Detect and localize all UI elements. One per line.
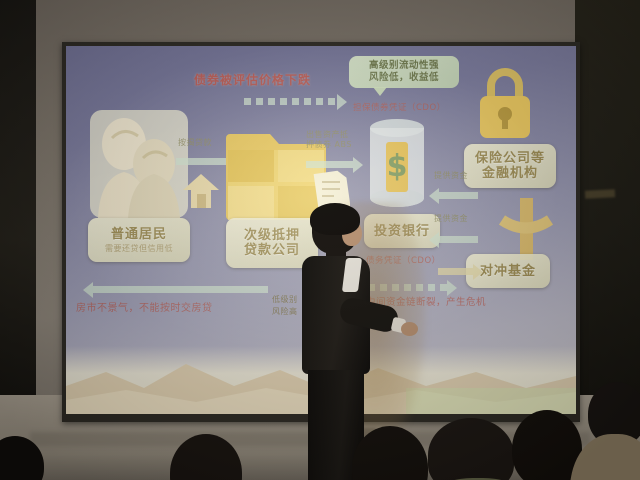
presenter-hair bbox=[310, 203, 360, 235]
audience-head-2 bbox=[170, 434, 242, 480]
presenter-hand bbox=[401, 322, 418, 336]
wall-dark-right-panel bbox=[575, 0, 640, 420]
audience-head-3 bbox=[352, 426, 428, 480]
audience-head-4 bbox=[428, 418, 514, 480]
lecture-hall-scene: 债券被评估价格下跌 高级别流动性强 风险低，收益低 担保债券凭证（CDO） 普通… bbox=[0, 0, 640, 480]
wall-rail bbox=[585, 189, 615, 199]
audience bbox=[0, 390, 640, 480]
audience-head-1 bbox=[0, 436, 44, 480]
wall-dark-left-panel bbox=[0, 0, 36, 400]
